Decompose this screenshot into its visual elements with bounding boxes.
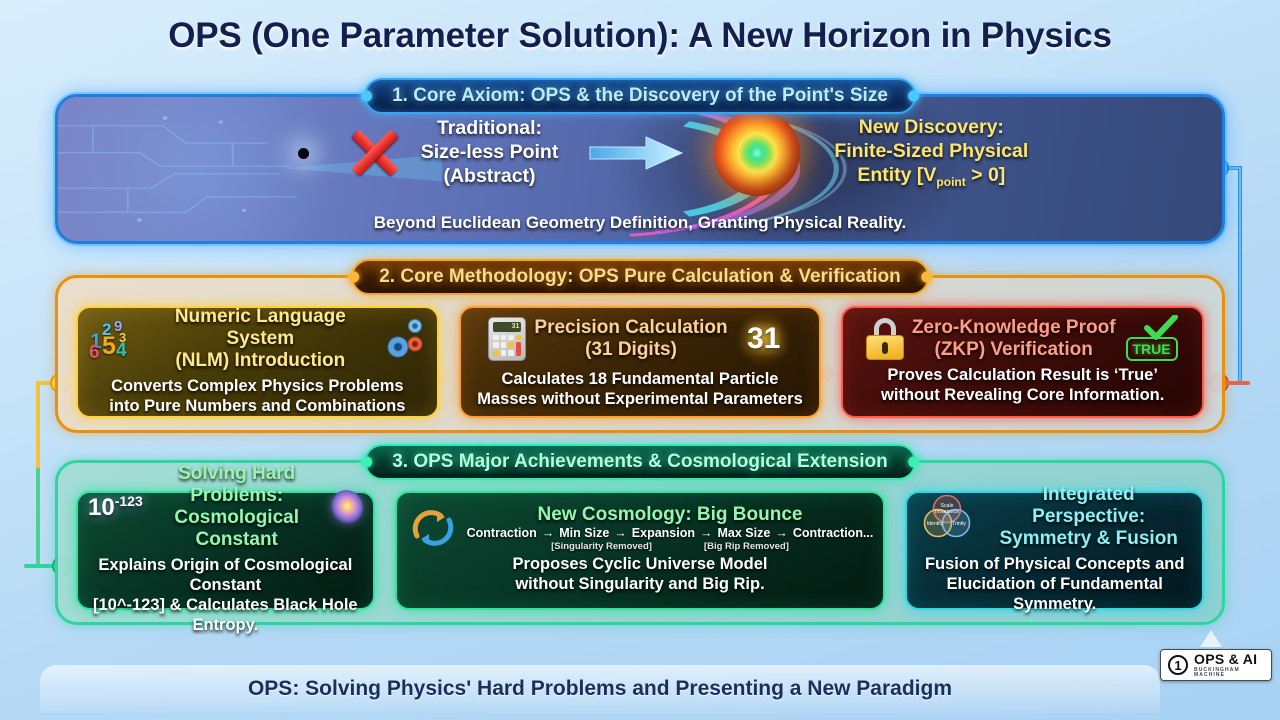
section3-header: 3. OPS Major Achievements & Cosmological… <box>364 444 916 480</box>
calculator-keys <box>493 335 521 356</box>
card-title-text: Integrated Perspective: Symmetry & Fusio… <box>985 484 1192 550</box>
logo-tagline: BUCKINGHAM MACHINE <box>1194 668 1264 678</box>
red-x-mark-icon <box>349 127 401 179</box>
big-bounce-content: New Cosmology: Big Bounce Contraction→ M… <box>467 504 874 552</box>
section2-cards: 1 2 9 5 3 6 4 Numeric Language System (N… <box>76 306 1204 418</box>
logo-text: OPS & AI BUCKINGHAM MACHINE <box>1194 652 1264 678</box>
discovery-formula: Entity [Vpoint > 0] <box>834 164 1028 190</box>
header-dot-right <box>908 91 919 102</box>
card-title-row: Scale Invariance Identity Trinity Integr… <box>917 484 1192 550</box>
header-dot-left <box>361 457 372 468</box>
card-title-row: 1 2 9 5 3 6 4 Numeric Language System (N… <box>88 306 427 372</box>
header-dot-right <box>908 457 919 468</box>
traditional-point-label: Traditional: Size-less Point (Abstract) <box>421 117 559 188</box>
header-dot-right <box>921 272 932 283</box>
footer-pointer-icon <box>1200 630 1222 647</box>
card-big-bounce[interactable]: New Cosmology: Big Bounce Contraction→ M… <box>395 491 886 610</box>
point-dot-icon <box>298 148 309 159</box>
padlock-icon <box>866 318 904 360</box>
card-body-text: Converts Complex Physics Problems into P… <box>109 377 405 417</box>
section-major-achievements: 3. OPS Major Achievements & Cosmological… <box>55 460 1225 625</box>
burst-badge-value: 31 <box>747 322 780 356</box>
section2-header: 2. Core Methodology: OPS Pure Calculatio… <box>351 259 929 295</box>
header-dot-left <box>348 272 359 283</box>
calculator-icon: 31 <box>488 317 526 361</box>
header-dot-left <box>361 91 372 102</box>
card-numeric-language-system[interactable]: 1 2 9 5 3 6 4 Numeric Language System (N… <box>76 306 439 418</box>
svg-text:Invariance: Invariance <box>935 509 959 515</box>
footer-bar: OPS: Solving Physics' Hard Problems and … <box>40 665 1160 713</box>
bounce-cycle-chain: Contraction→ Min Size→ Expansion→ Max Si… <box>467 526 874 552</box>
card-cosmological-constant[interactable]: 10-123 Solving Hard Problems: Cosmologic… <box>76 491 375 610</box>
card-zero-knowledge-proof[interactable]: Zero-Knowledge Proof (ZKP) Verification … <box>841 306 1204 418</box>
section3-header-label: 3. OPS Major Achievements & Cosmological… <box>392 451 888 473</box>
burst-31-icon: 31 <box>736 313 792 365</box>
card-title-row: New Cosmology: Big Bounce Contraction→ M… <box>407 504 874 552</box>
card-title-row: 10-123 Solving Hard Problems: Cosmologic… <box>88 463 363 551</box>
card-title-text: Solving Hard Problems: Cosmological Cons… <box>151 463 323 551</box>
true-check-icon: TRUE <box>1124 317 1180 361</box>
new-discovery-label: New Discovery: Finite-Sized Physical Ent… <box>834 116 1028 189</box>
numbers-icon: 1 2 9 5 3 6 4 <box>88 316 140 362</box>
card-body-text: Fusion of Physical Concepts and Elucidat… <box>917 555 1192 614</box>
section-core-methodology: 2. Core Methodology: OPS Pure Calculatio… <box>55 275 1225 433</box>
chain-line: Contraction→ Min Size→ Expansion→ Max Si… <box>467 526 874 540</box>
right-arrow-icon <box>588 133 684 173</box>
card-precision-calculation[interactable]: 31 Precision Calculation (31 Digits) 31 … <box>459 306 822 418</box>
card-title-row: Zero-Knowledge Proof (ZKP) Verification … <box>853 317 1192 361</box>
card-title-row: 31 Precision Calculation (31 Digits) 31 <box>471 313 810 365</box>
power-of-ten-icon: 10-123 <box>88 493 143 522</box>
section3-cards: 10-123 Solving Hard Problems: Cosmologic… <box>76 491 1204 610</box>
galaxy-icon <box>325 485 368 529</box>
svg-text:Identity: Identity <box>927 521 944 527</box>
page-title: OPS (One Parameter Solution): A New Hori… <box>0 16 1280 56</box>
svg-text:Trinity: Trinity <box>952 521 966 527</box>
section1-header-label: 1. Core Axiom: OPS & the Discovery of th… <box>392 85 888 107</box>
section1-caption: Beyond Euclidean Geometry Definition, Gr… <box>58 213 1222 233</box>
card-body-text: Explains Origin of Cosmological Constant… <box>88 556 363 635</box>
card-body-text: Proves Calculation Result is ‘True’ with… <box>881 366 1164 406</box>
card-title-text: Numeric Language System (NLM) Introducti… <box>148 306 373 372</box>
section1-content-row: Traditional: Size-less Point (Abstract) … <box>58 105 1222 201</box>
card-integrated-perspective[interactable]: Scale Invariance Identity Trinity Integr… <box>905 491 1204 610</box>
logo-name: OPS & AI <box>1194 652 1264 666</box>
chain-notes: [Singularity Removed] [Big Rip Removed] <box>551 541 789 552</box>
card-body-text: Proposes Cyclic Universe Model without S… <box>513 555 768 595</box>
section1-header: 1. Core Axiom: OPS & the Discovery of th… <box>364 78 916 114</box>
logo-number: 1 <box>1168 655 1188 675</box>
gears-icon <box>381 317 427 361</box>
card-title-text: Zero-Knowledge Proof (ZKP) Verification <box>912 317 1116 361</box>
section2-header-label: 2. Core Methodology: OPS Pure Calculatio… <box>379 266 901 288</box>
calculator-display: 31 <box>493 322 521 332</box>
ops-ai-logo[interactable]: 1 OPS & AI BUCKINGHAM MACHINE <box>1160 649 1272 681</box>
card-title-text: Precision Calculation (31 Digits) <box>534 317 727 361</box>
venn-diagram-icon: Scale Invariance Identity Trinity <box>917 493 977 541</box>
card-title-text: New Cosmology: Big Bounce <box>538 504 803 526</box>
energy-orb-icon <box>714 110 800 196</box>
card-body-text: Calculates 18 Fundamental Particle Masse… <box>477 370 803 410</box>
section-core-axiom: 1. Core Axiom: OPS & the Discovery of th… <box>55 94 1225 244</box>
true-badge-label: TRUE <box>1126 337 1178 361</box>
cycle-arrows-icon <box>407 504 459 552</box>
footer-tagline: OPS: Solving Physics' Hard Problems and … <box>248 677 952 701</box>
